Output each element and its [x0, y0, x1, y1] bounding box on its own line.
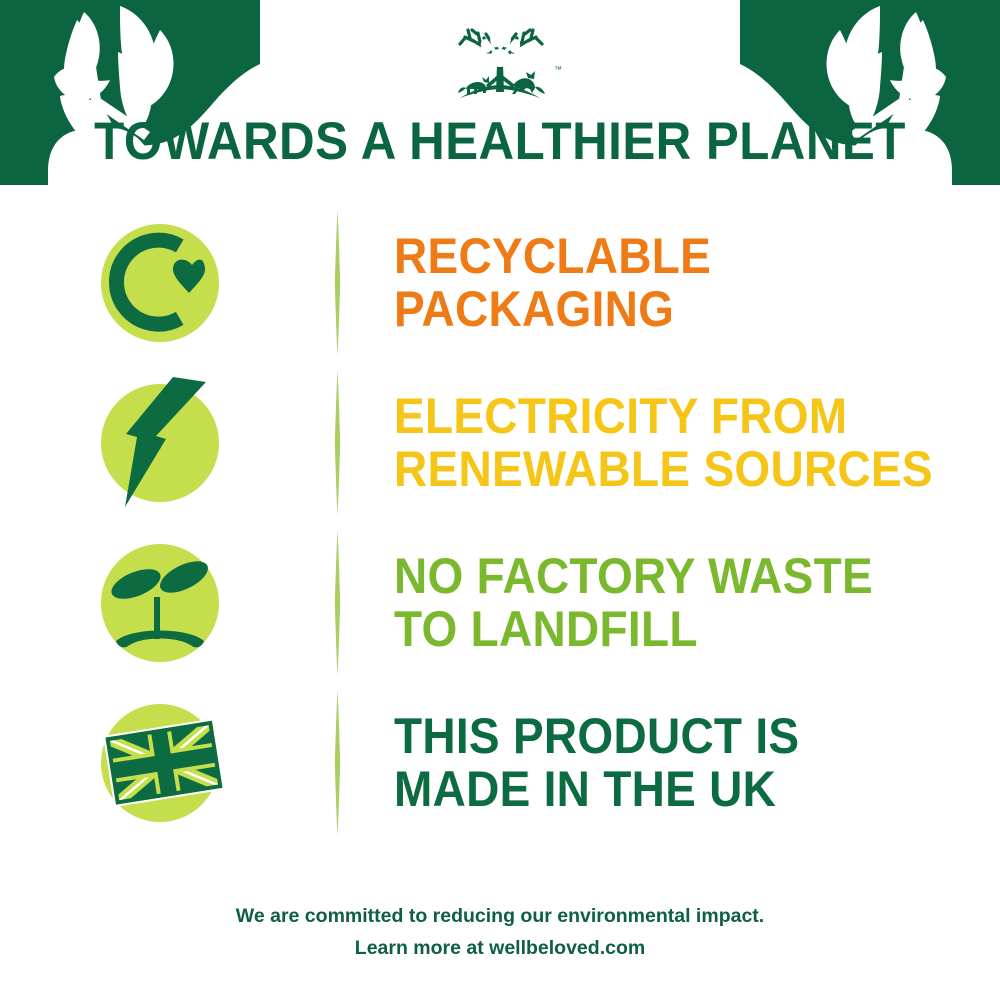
- icon-cell: [0, 379, 320, 507]
- feature-label-renewable-electricity: ELECTRICITY FROM RENEWABLE SOURCES: [394, 390, 952, 496]
- icon-cell: [0, 699, 320, 827]
- feature-row-no-factory-waste: NO FACTORY WASTE TO LANDFILL: [0, 523, 1000, 683]
- divider-cell: [320, 203, 354, 363]
- label-cell: ELECTRICITY FROM RENEWABLE SOURCES: [354, 390, 1000, 496]
- union-jack-flag-icon: [96, 699, 224, 827]
- icon-cell: [0, 539, 320, 667]
- divider-leaf-3: [334, 530, 341, 676]
- footer-line-commitment: We are committed to reducing our environ…: [0, 900, 1000, 932]
- sprout-badge: [96, 539, 224, 667]
- divider-leaf-2: [334, 370, 341, 516]
- sprout-icon: [96, 539, 224, 667]
- page-title: TOWARDS A HEALTHIER PLANET: [35, 113, 965, 171]
- feature-row-recyclable-packaging: RECYCLABLE PACKAGING: [0, 203, 1000, 363]
- divider-cell: [320, 523, 354, 683]
- brand-logo: ™: [0, 26, 1000, 106]
- label-cell: THIS PRODUCT IS MADE IN THE UK: [354, 710, 1000, 816]
- divider-leaf-4: [334, 690, 341, 836]
- features-list: RECYCLABLE PACKAGING: [0, 203, 1000, 843]
- trademark-symbol: ™: [554, 65, 562, 74]
- feature-label-made-in-uk: THIS PRODUCT IS MADE IN THE UK: [394, 710, 952, 816]
- feature-row-made-in-uk: THIS PRODUCT IS MADE IN THE UK: [0, 683, 1000, 843]
- label-cell: NO FACTORY WASTE TO LANDFILL: [354, 550, 1000, 656]
- recycle-heart-badge: [96, 219, 224, 347]
- union-jack-badge: [96, 699, 224, 827]
- feature-label-recyclable-packaging: RECYCLABLE PACKAGING: [394, 230, 952, 336]
- feature-row-renewable-electricity: ELECTRICITY FROM RENEWABLE SOURCES: [0, 363, 1000, 523]
- lightning-bolt-badge: [96, 379, 224, 507]
- divider-cell: [320, 683, 354, 843]
- recycle-heart-icon: [96, 219, 224, 347]
- divider-leaf-1: [334, 210, 341, 356]
- wellbeloved-tree-logo-icon: ™: [436, 26, 564, 106]
- feature-label-no-factory-waste: NO FACTORY WASTE TO LANDFILL: [394, 550, 952, 656]
- lightning-bolt-icon: [96, 379, 224, 507]
- footer-text: We are committed to reducing our environ…: [0, 900, 1000, 964]
- divider-cell: [320, 363, 354, 523]
- icon-cell: [0, 219, 320, 347]
- footer-line-learn-more[interactable]: Learn more at wellbeloved.com: [0, 932, 1000, 964]
- label-cell: RECYCLABLE PACKAGING: [354, 230, 1000, 336]
- poster-canvas: ™ TOWARDS A HEALTHIER PLANET: [0, 0, 1000, 1000]
